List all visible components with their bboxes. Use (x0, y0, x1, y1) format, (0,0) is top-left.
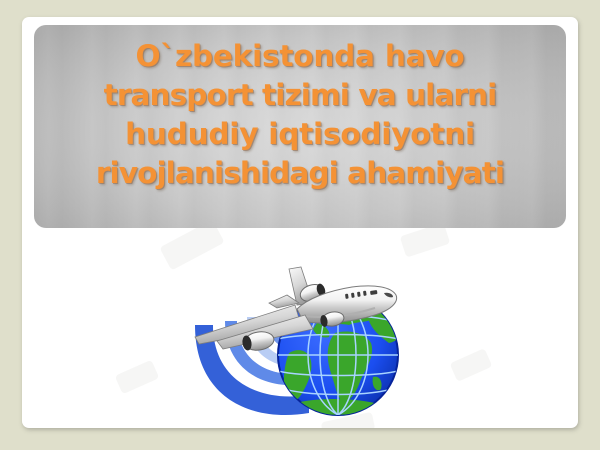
slide-title: O`zbekistonda havo transport tizimi va u… (34, 25, 566, 193)
slide-canvas: O`zbekistonda havo transport tizimi va u… (0, 0, 600, 450)
watermark-smudge (450, 348, 493, 382)
slide-title-line-4: rivojlanishidagi ahamiyati (40, 154, 560, 193)
slide-title-line-3: hududiy iqtisodiyotni (40, 115, 560, 154)
watermark-smudge (115, 360, 160, 395)
airplane-over-globe-svg (177, 245, 447, 425)
slide-title-line-2: transport tizimi va ularni (40, 76, 560, 115)
slide-title-line-1: O`zbekistonda havo (40, 37, 560, 76)
airplane-over-globe-image (177, 245, 447, 425)
title-plate: O`zbekistonda havo transport tizimi va u… (34, 25, 566, 228)
slide-panel: O`zbekistonda havo transport tizimi va u… (22, 17, 578, 428)
